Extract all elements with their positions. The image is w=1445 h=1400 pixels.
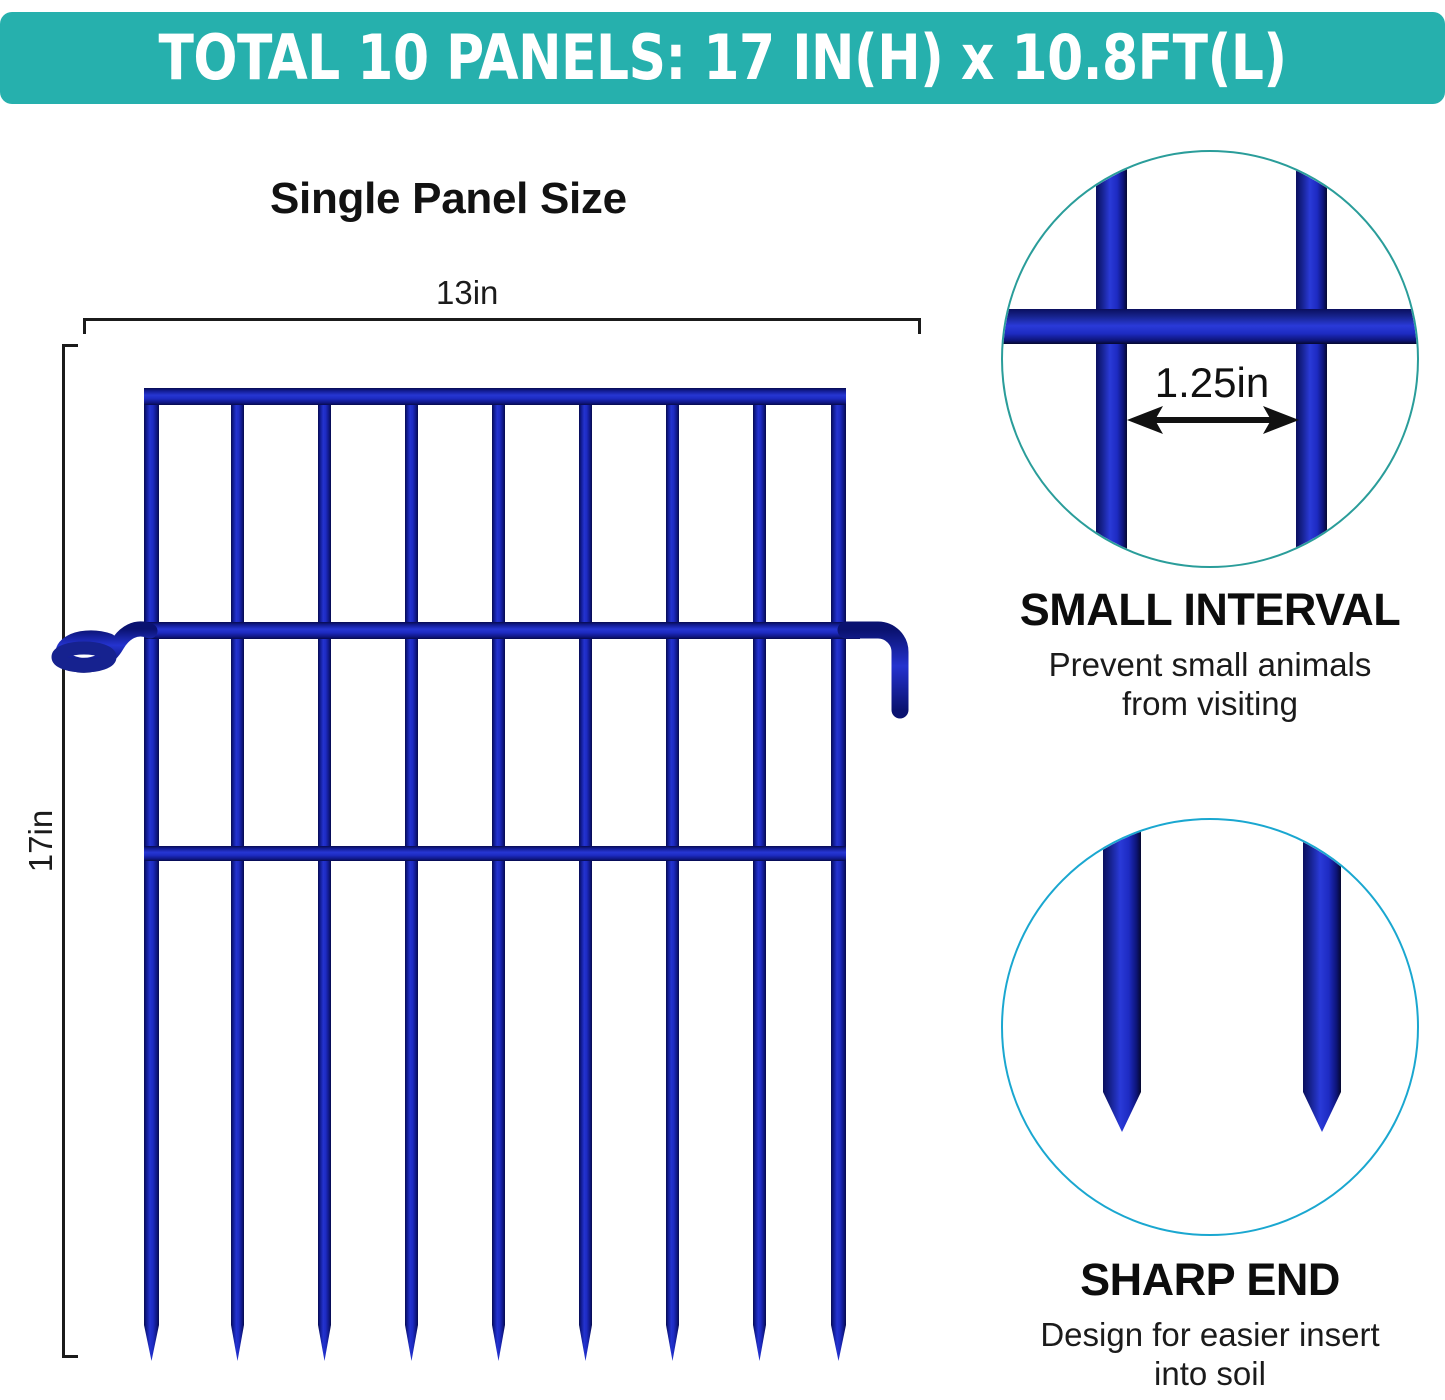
vertical-bar: [405, 399, 418, 1361]
interval-measure-arrow: [1127, 406, 1299, 434]
vertical-bar: [144, 395, 159, 1361]
small-interval-subtitle: Prevent small animals from visiting: [975, 646, 1445, 724]
sharp-end-circle: [1001, 818, 1419, 1236]
single-panel-section: Single Panel Size 13in 17in: [0, 104, 975, 1400]
stake: [1303, 820, 1341, 1132]
vertical-bar: [753, 399, 766, 1361]
vertical-bar: [318, 399, 331, 1361]
vertical-bar: [492, 399, 505, 1361]
small-interval-subtitle-line-2: from visiting: [975, 685, 1445, 724]
horizontal-rail-top: [144, 388, 846, 405]
vertical-wire: [1096, 152, 1127, 568]
left-hook-loop: [58, 629, 150, 666]
sharp-end-subtitle: Design for easier insert into soil: [975, 1316, 1445, 1394]
product-infographic: { "colors": { "banner_teal": "#26b0ad", …: [0, 0, 1445, 1400]
stake: [1103, 820, 1141, 1132]
vertical-bar: [231, 399, 244, 1361]
vertical-bar: [831, 395, 846, 1361]
interval-measurement-label: 1.25in: [1155, 359, 1269, 406]
small-interval-circle: 1.25in: [1001, 150, 1419, 568]
header-title: TOTAL 10 PANELS: 17 IN(H) x 10.8FT(L): [158, 27, 1286, 89]
sharp-end-subtitle-line-1: Design for easier insert: [975, 1316, 1445, 1355]
header-banner: TOTAL 10 PANELS: 17 IN(H) x 10.8FT(L): [0, 12, 1445, 104]
fence-panel-drawing: [0, 104, 975, 1400]
vertical-bar: [666, 399, 679, 1361]
small-interval-subtitle-line-1: Prevent small animals: [975, 646, 1445, 685]
grid-intersection-icon: 1.25in: [1003, 152, 1419, 568]
horizontal-wire: [1003, 309, 1419, 344]
sharp-end-subtitle-line-2: into soil: [975, 1355, 1445, 1394]
pointed-stakes-icon: [1003, 820, 1419, 1236]
callout-sharp-end: SHARP END Design for easier insert into …: [975, 818, 1445, 1394]
horizontal-rail-middle: [144, 622, 860, 639]
right-hook-pin: [846, 630, 900, 710]
small-interval-title: SMALL INTERVAL: [975, 584, 1445, 636]
horizontal-rail-bottom: [144, 846, 846, 861]
vertical-wire: [1296, 152, 1327, 568]
vertical-bars-group: [144, 395, 846, 1361]
sharp-end-title: SHARP END: [975, 1254, 1445, 1306]
vertical-bar: [579, 399, 592, 1361]
callout-small-interval: 1.25in SMALL INTERVAL Prevent small anim…: [975, 150, 1445, 724]
